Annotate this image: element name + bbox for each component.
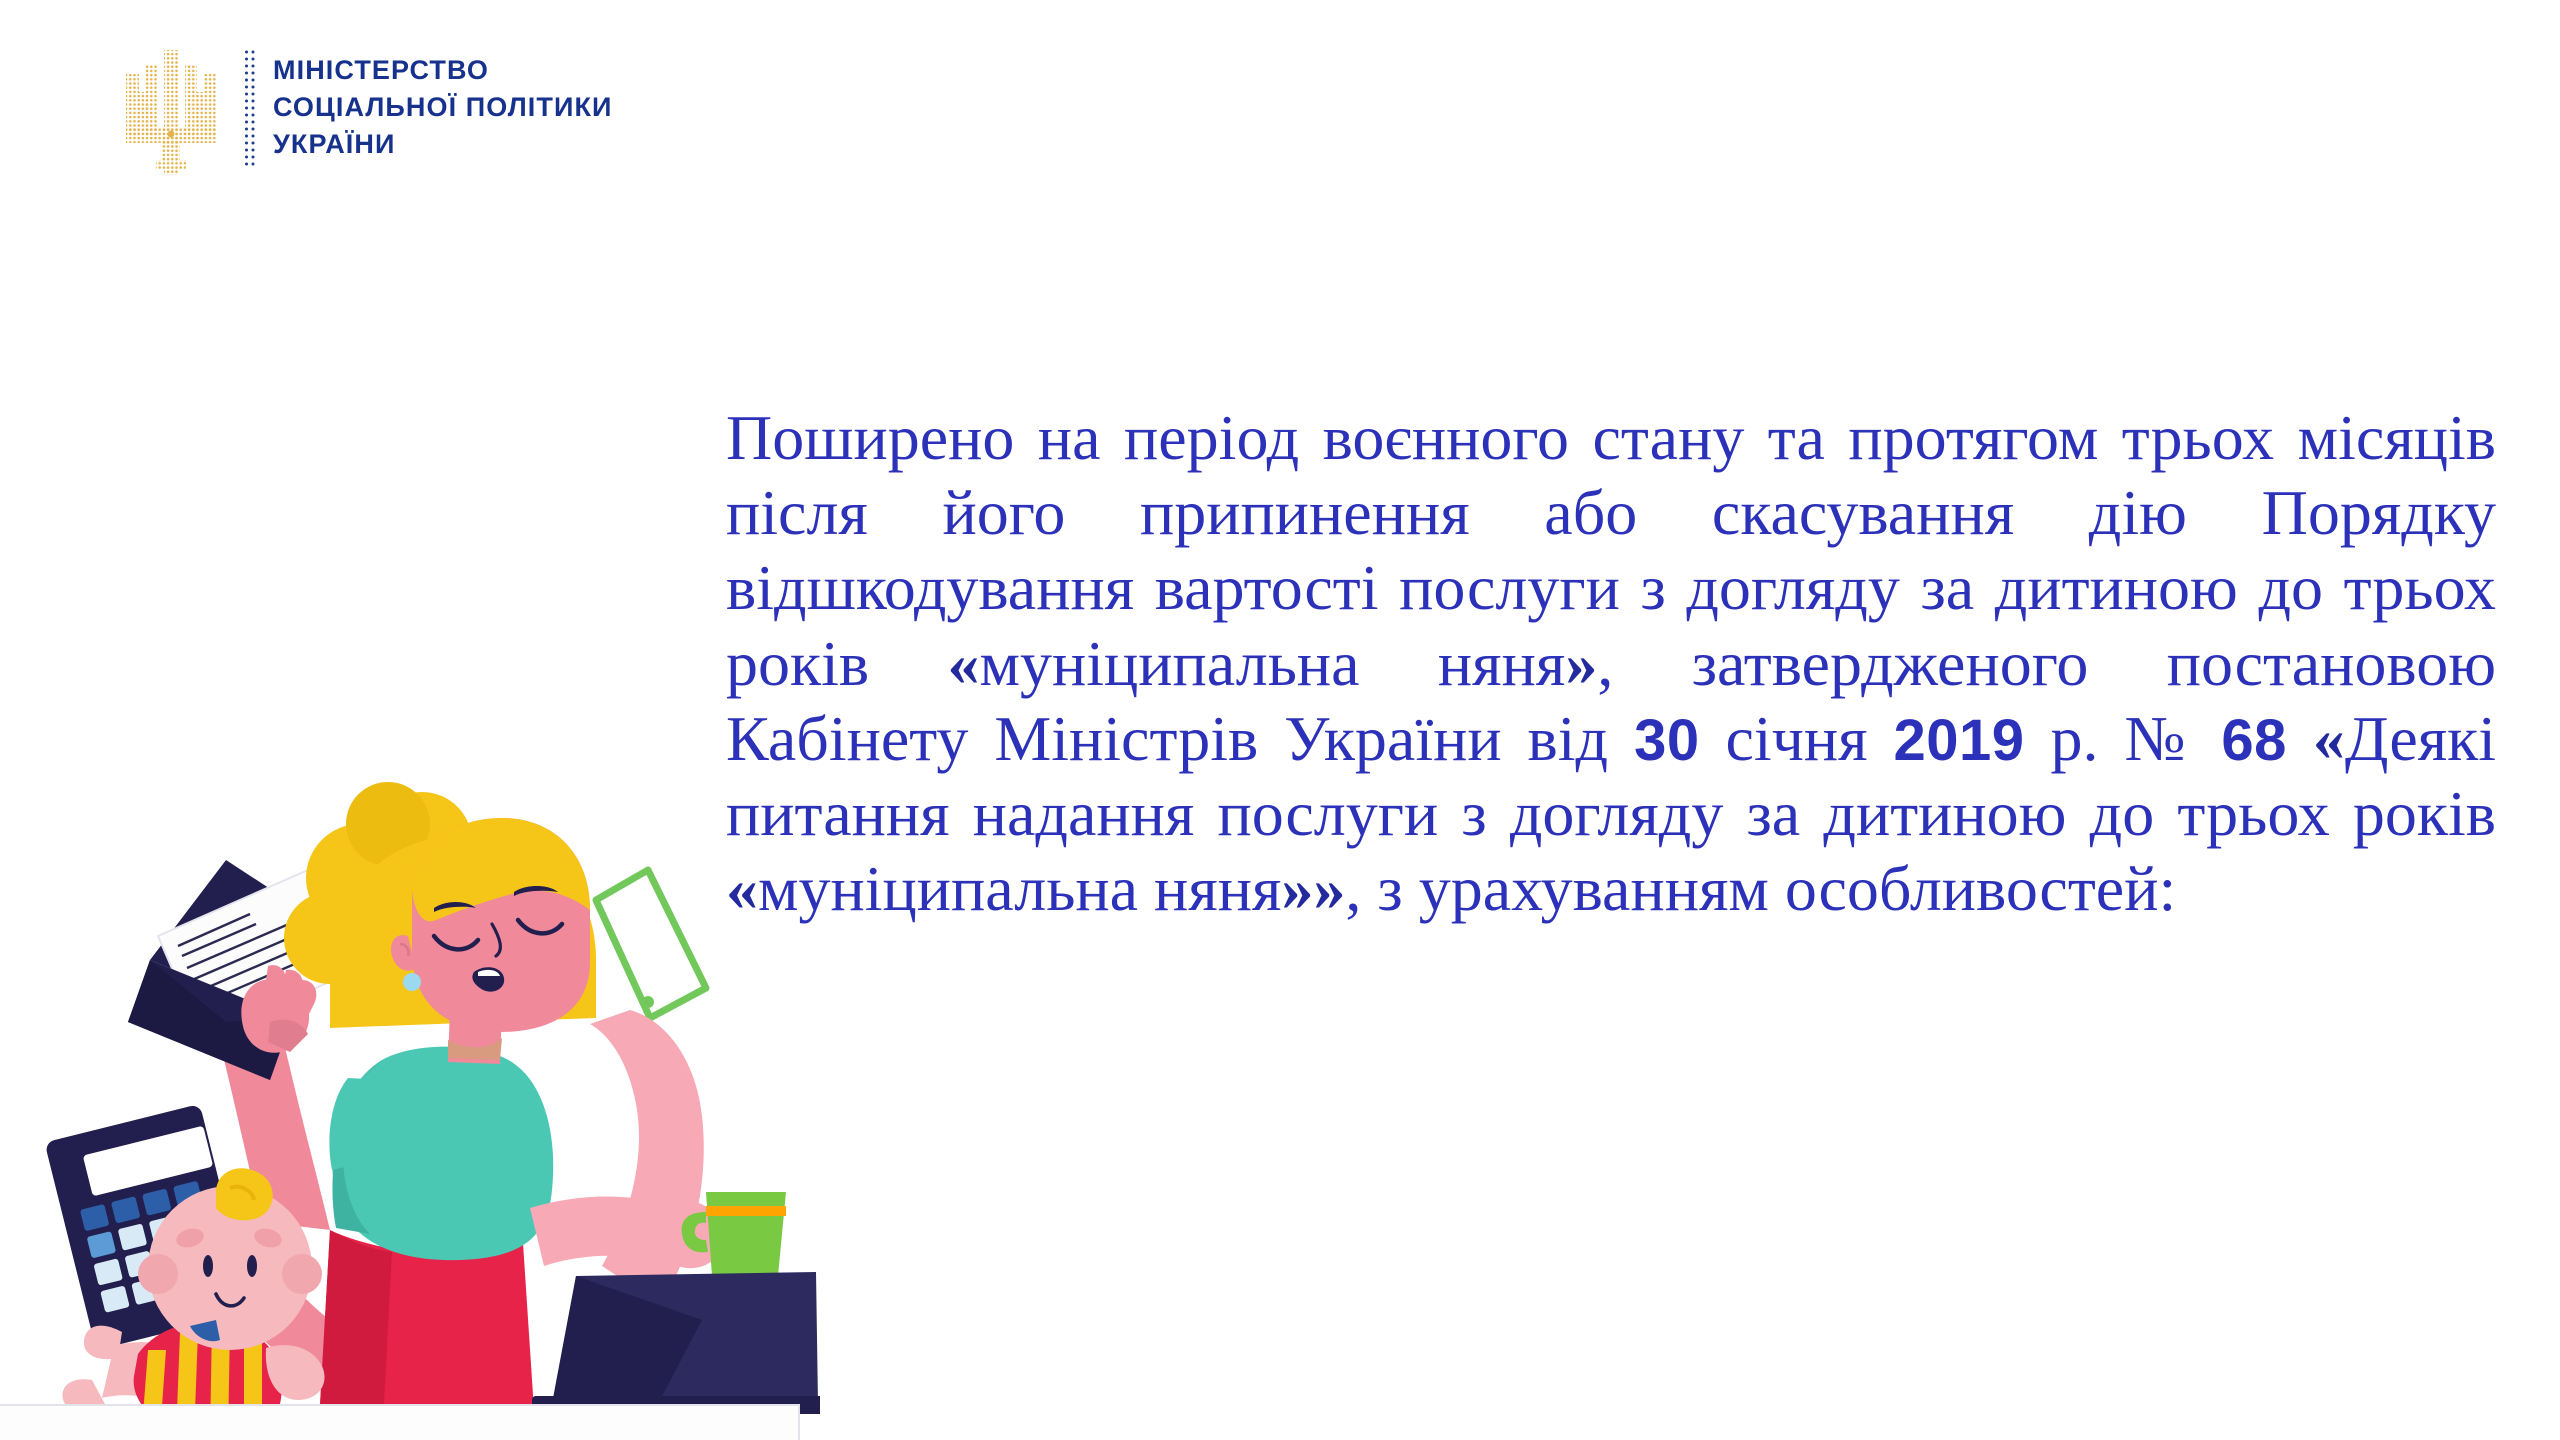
baby-figure	[62, 1168, 324, 1438]
ear	[391, 935, 416, 971]
blouse	[332, 1047, 553, 1260]
body-part-4	[2287, 703, 2313, 774]
laptop-screen-shade	[552, 1276, 702, 1404]
baby-leg-upper	[84, 1326, 122, 1360]
quote-close-1: »	[1565, 628, 1597, 699]
calculator-screen	[83, 1126, 213, 1197]
ukrainian-tryzub-dotted-icon	[112, 40, 230, 175]
quote-close-2: »	[1313, 853, 1345, 924]
quote-text-1: муніципальна няня	[980, 628, 1566, 699]
year-number: 2019	[1894, 708, 2025, 773]
baby-mouth	[216, 1294, 244, 1306]
hand-calculator	[213, 1252, 297, 1333]
baby-ear-right	[282, 1254, 322, 1294]
envelope-front	[128, 960, 292, 1080]
ministry-line-3: УКРАЇНИ	[273, 126, 613, 163]
eye-right	[518, 920, 562, 933]
multitasking-mother-illustration	[30, 760, 820, 1440]
baby-cheek-right	[252, 1226, 284, 1251]
body-part-3: р. №	[2025, 703, 2222, 774]
fringe	[412, 818, 590, 921]
envelope-back	[150, 860, 330, 1018]
lower-arm-calculator	[244, 1286, 386, 1398]
phone-group	[590, 870, 706, 1304]
illustration-svg	[30, 760, 820, 1440]
ministry-line-1: МІНІСТЕРСТВО	[273, 52, 613, 89]
day-number: 30	[1634, 708, 1700, 773]
ministry-line-2: СОЦІАЛЬНОЇ ПОЛІТИКИ	[273, 89, 613, 126]
baby-arm	[266, 1345, 325, 1400]
neck-shadow	[448, 1038, 502, 1060]
ministry-name: МІНІСТЕРСТВО СОЦІАЛЬНОЇ ПОЛІТИКИ УКРАЇНИ	[273, 52, 613, 162]
phone-arm	[590, 1010, 704, 1304]
neck	[448, 1008, 502, 1064]
body-group	[318, 1008, 553, 1440]
desk-surface	[0, 1404, 800, 1440]
head-group	[391, 818, 590, 1032]
eyebrow-right	[514, 886, 558, 896]
letter-lines	[178, 908, 341, 1004]
quote-text-3: муніципальна няня	[758, 853, 1281, 924]
eyebrow-left	[434, 902, 476, 912]
quote-close-3: »	[1281, 853, 1313, 924]
laptop-screen	[552, 1272, 818, 1404]
envelope-with-letter-icon	[128, 860, 352, 1080]
quote-open-3: «	[726, 853, 758, 924]
envelope-arm-group	[204, 953, 330, 1230]
hair-group	[284, 782, 596, 1028]
baby-eye-right	[247, 1255, 257, 1277]
baby-cheek-left	[174, 1226, 206, 1251]
baby-legs	[102, 1342, 198, 1408]
hand-mug	[656, 1199, 724, 1268]
mouth	[472, 967, 504, 991]
document-number: 68	[2221, 708, 2287, 773]
month-name: січня	[1700, 703, 1894, 774]
nose	[492, 924, 500, 956]
baby-ear-left	[138, 1254, 178, 1294]
forearm-mug	[530, 1196, 686, 1268]
baby-head	[148, 1186, 312, 1350]
upper-arm-envelope	[204, 953, 330, 1230]
teeth	[478, 970, 500, 976]
dotted-divider-icon	[244, 48, 257, 168]
coffee-mug-icon	[682, 1192, 786, 1276]
baby-collar	[190, 1320, 220, 1341]
quote-open-1: «	[948, 628, 980, 699]
mug-arm-group	[530, 1192, 786, 1276]
baby-eye-left	[203, 1255, 213, 1277]
earring	[403, 973, 421, 991]
calculator-body	[44, 1104, 251, 1350]
mug-stripe	[706, 1206, 786, 1216]
hair-front	[330, 834, 596, 1028]
mug-body	[706, 1192, 786, 1276]
smartphone-icon	[596, 870, 706, 1018]
slide-root: МІНІСТЕРСТВО СОЦІАЛЬНОЇ ПОЛІТИКИ УКРАЇНИ…	[0, 0, 2560, 1440]
envelope-front-shade	[128, 960, 292, 1080]
laptop-icon	[532, 1272, 820, 1414]
blouse-shade	[332, 1060, 382, 1234]
eye-left	[434, 936, 478, 949]
face	[412, 818, 590, 1032]
ministry-logo: МІНІСТЕРСТВО СОЦІАЛЬНОЇ ПОЛІТИКИ УКРАЇНИ	[112, 40, 613, 175]
slide-body-text: Поширено на період воєнного стану та про…	[726, 400, 2496, 926]
body-part-5: , з урахуванням особливостей:	[1345, 853, 2176, 924]
mug-handle	[682, 1212, 708, 1252]
hand-envelope	[241, 979, 309, 1053]
letter-sheet	[158, 870, 352, 1038]
baby-hair	[216, 1168, 273, 1220]
calculator-keys	[80, 1181, 223, 1313]
quote-open-2: «	[2313, 703, 2345, 774]
calculator-icon	[44, 1104, 296, 1350]
